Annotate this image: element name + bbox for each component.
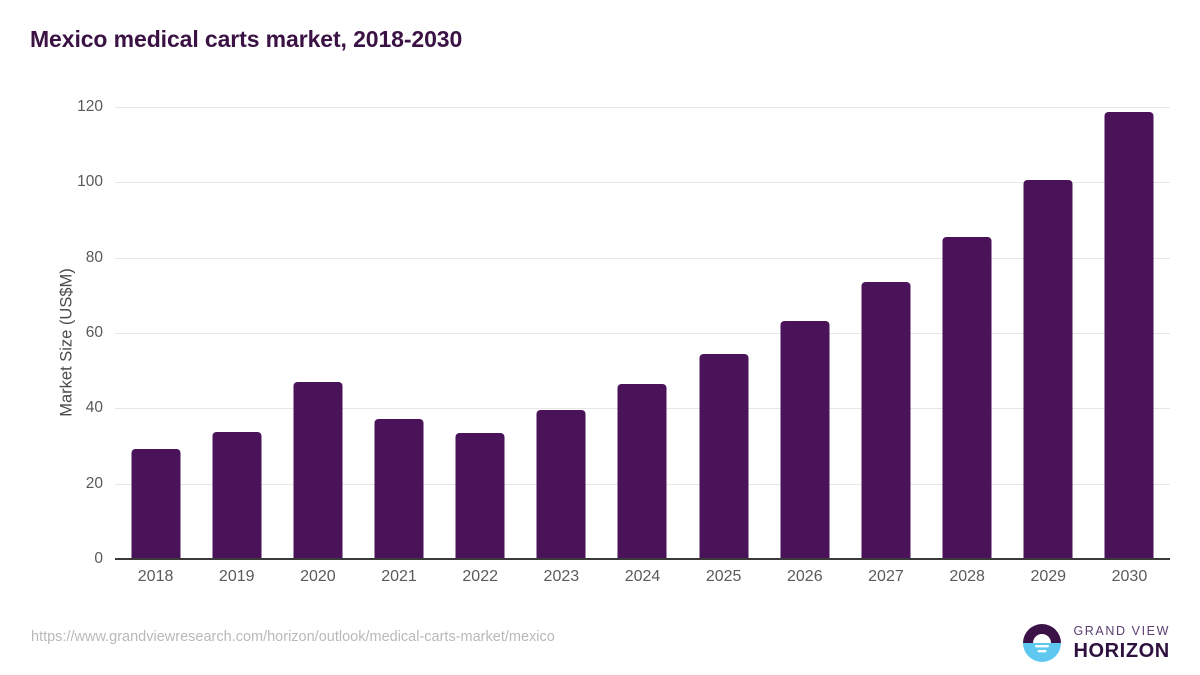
chart-page: Mexico medical carts market, 2018-2030 M… <box>0 0 1200 675</box>
y-tick-label: 40 <box>40 399 103 417</box>
y-tick-label: 0 <box>40 550 103 568</box>
x-axis-ticks: 2018201920202021202220232024202520262027… <box>115 0 1170 675</box>
x-tick-label: 2030 <box>1069 568 1189 586</box>
y-tick-label: 60 <box>40 324 103 342</box>
grand-view-horizon-sun-circle-icon <box>1020 621 1064 665</box>
logo-text: GRAND VIEW HORIZON <box>1073 625 1170 661</box>
y-tick-label: 20 <box>40 475 103 493</box>
brand-logo: GRAND VIEW HORIZON <box>1020 620 1170 666</box>
y-tick-label: 80 <box>40 249 103 267</box>
logo-text-line2: HORIZON <box>1073 641 1170 661</box>
y-tick-label: 120 <box>40 98 103 116</box>
y-tick-label: 100 <box>40 173 103 191</box>
source-url[interactable]: https://www.grandviewresearch.com/horizo… <box>31 629 555 645</box>
logo-text-line1: GRAND VIEW <box>1073 625 1170 638</box>
